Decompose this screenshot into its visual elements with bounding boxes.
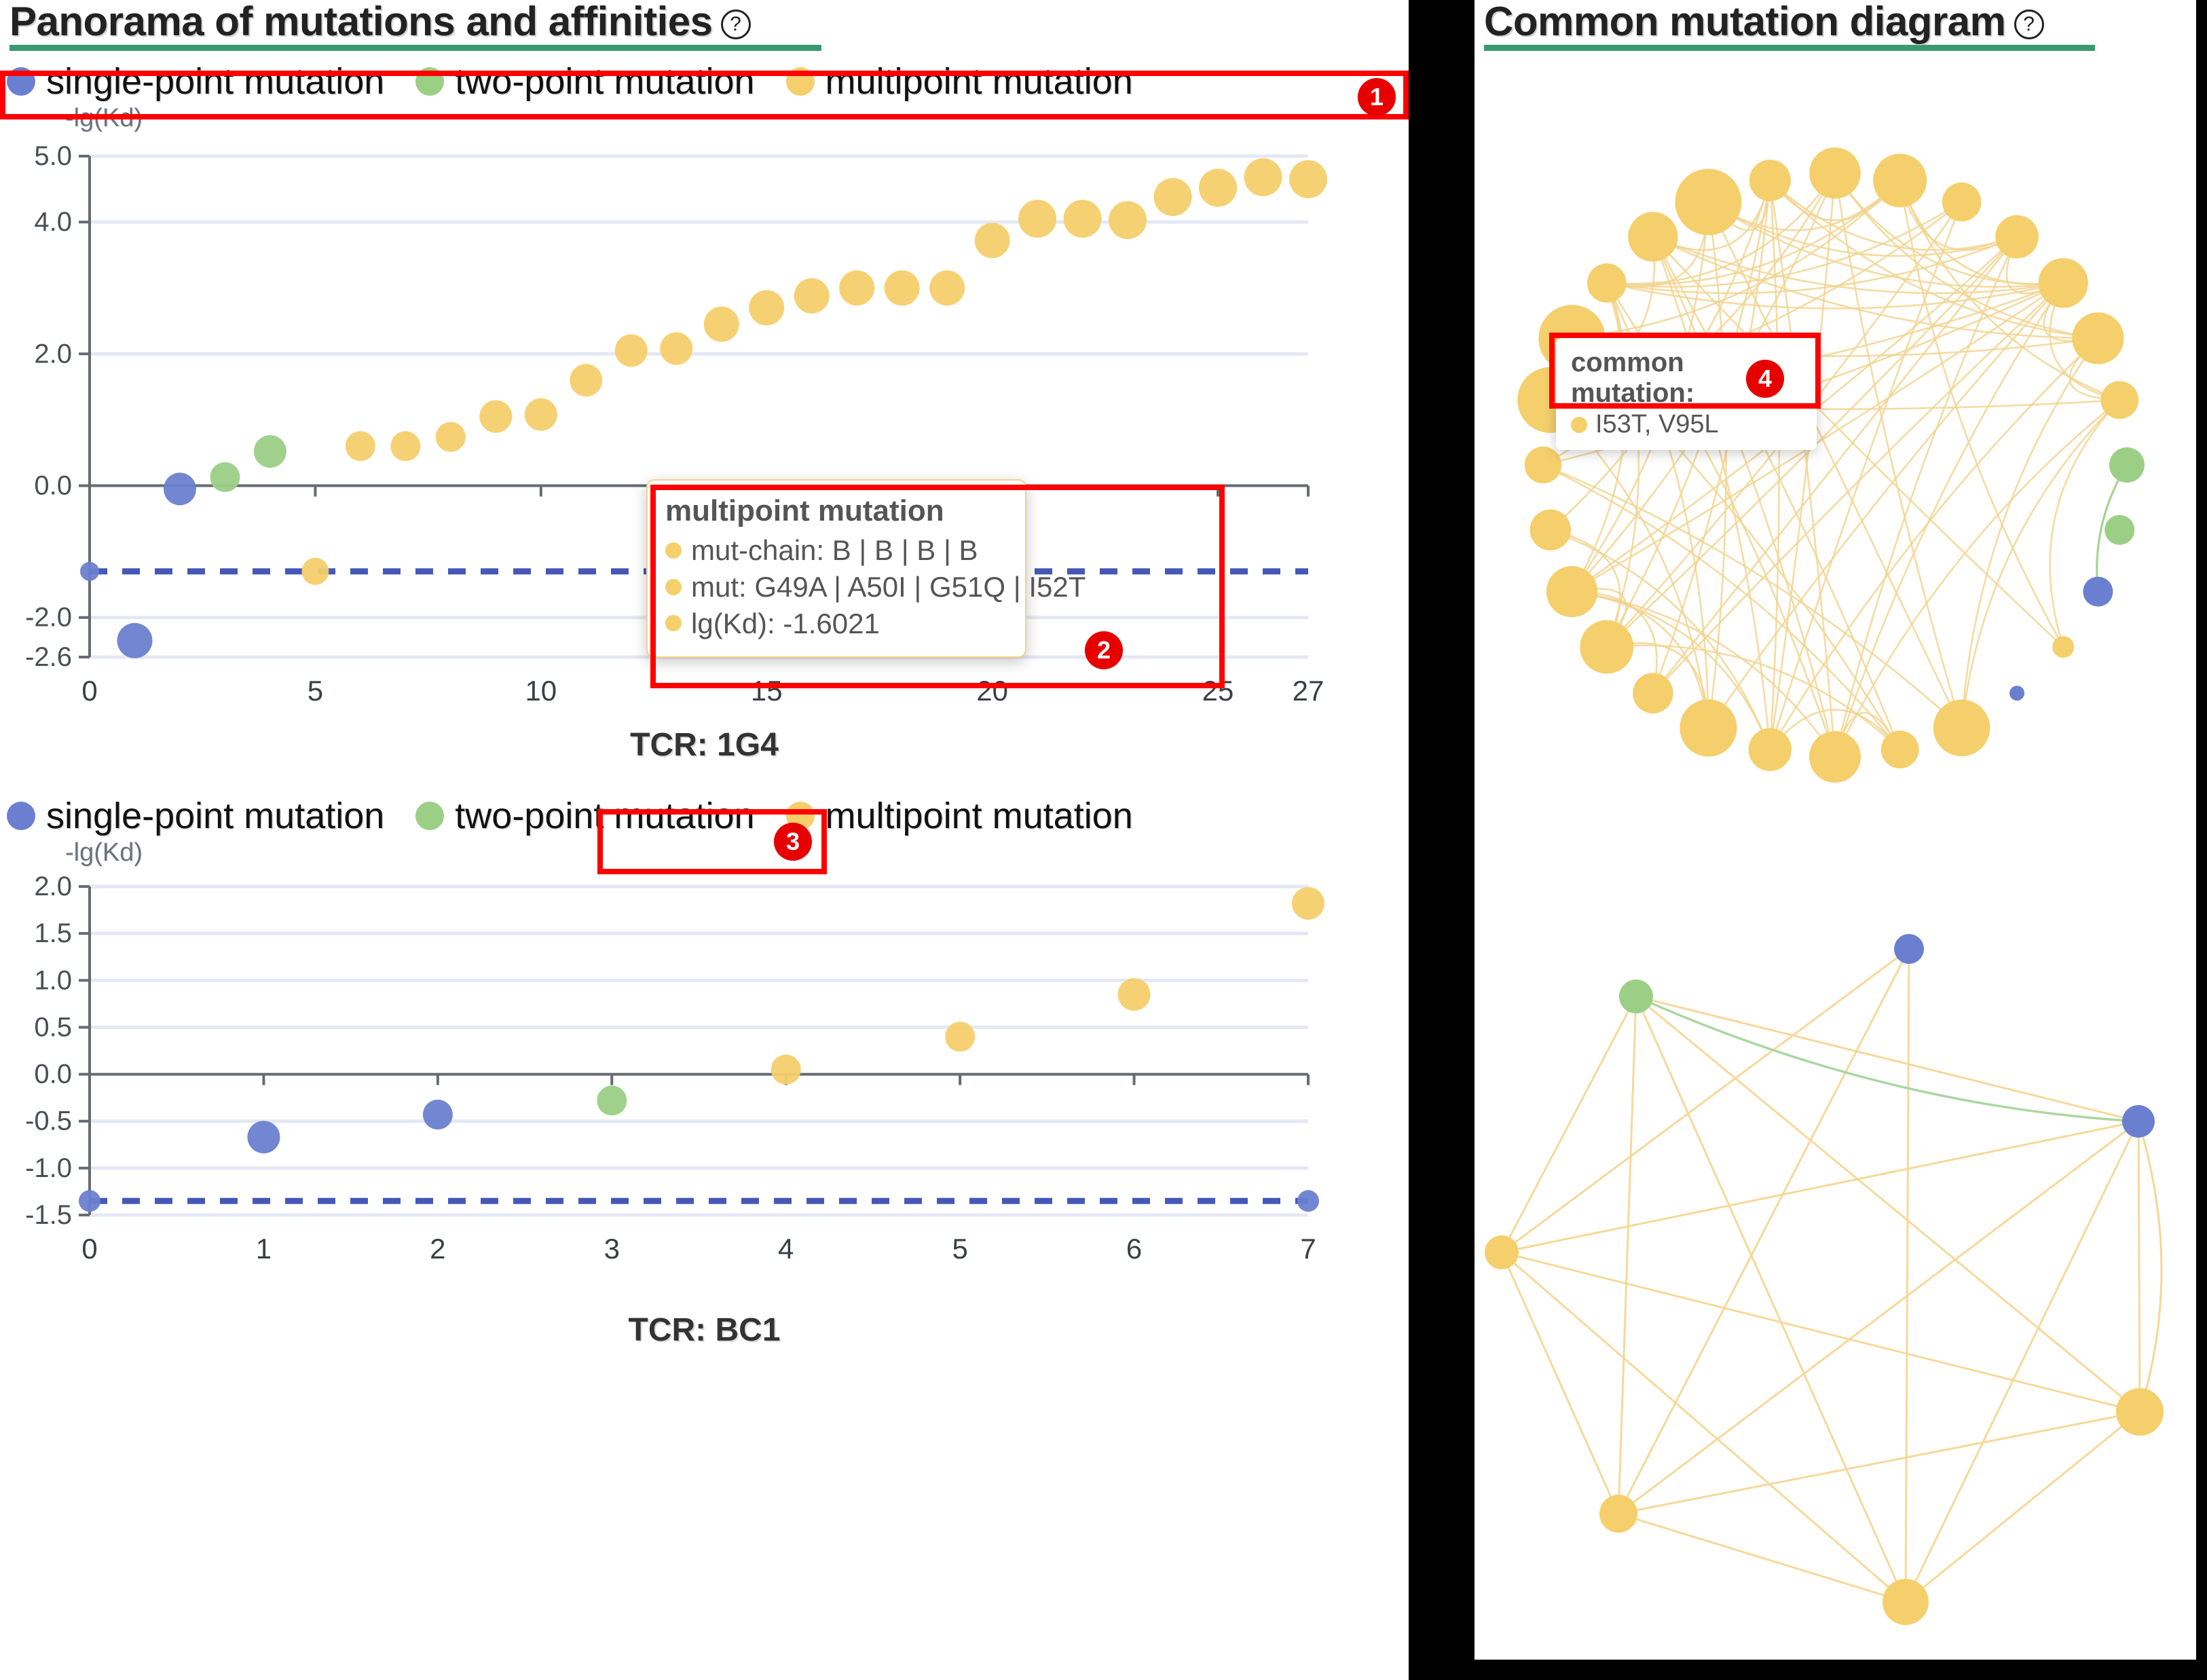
legend-item-two-point-2[interactable]: two-point mutation: [415, 795, 754, 837]
tooltip-text-mut-chain: mut-chain: B | B | B | B: [691, 532, 978, 569]
svg-text:20: 20: [976, 675, 1008, 707]
legend-dot-single-point: [7, 802, 35, 830]
bullet-dot-icon: [665, 579, 682, 595]
svg-text:4.0: 4.0: [34, 207, 72, 237]
svg-text:3: 3: [604, 1233, 620, 1265]
annotation-badge-3: 3: [774, 823, 812, 861]
svg-text:4: 4: [778, 1233, 794, 1265]
legend-label-multipoint: multipoint mutation: [826, 60, 1133, 102]
svg-text:-2.0: -2.0: [25, 603, 72, 633]
annotation-badge-2: 2: [1085, 631, 1123, 669]
common-mutation-header: Common mutation diagram ?: [1475, 0, 2196, 51]
annotation-badge-1: 1: [1358, 78, 1396, 116]
svg-text:5: 5: [952, 1233, 967, 1265]
svg-text:1.5: 1.5: [34, 918, 72, 948]
legend-dot-two-point: [415, 802, 444, 830]
common-mutation-panel: Common mutation diagram ? common mutatio…: [1475, 0, 2196, 1660]
tooltip-row-lgkd: lg(Kd): -1.6021: [665, 605, 1009, 642]
chart2-y-axis-label: -lg(Kd): [0, 838, 1409, 867]
legend-dot-single-point: [7, 67, 35, 96]
tooltip-row-mut: mut: G49A | A50I | G51Q | I52T: [665, 569, 1009, 605]
panorama-panel: Panorama of mutations and affinities ? s…: [0, 0, 1409, 1680]
tooltip-text-mut: mut: G49A | A50I | G51Q | I52T: [691, 569, 1086, 605]
cm-tooltip-row: I53T, V95L: [1571, 410, 1803, 439]
svg-text:0.0: 0.0: [34, 1060, 72, 1089]
panorama-header: Panorama of mutations and affinities ?: [0, 0, 1409, 51]
cm-tooltip-text: I53T, V95L: [1595, 410, 1719, 439]
bullet-dot-icon: [665, 542, 682, 559]
chart2-svg[interactable]: 2.01.51.00.50.0-0.5-1.0-1.501234567: [0, 867, 1409, 1288]
svg-text:25: 25: [1202, 675, 1234, 707]
svg-text:0.0: 0.0: [34, 471, 72, 501]
force-network-diagram[interactable]: [1475, 882, 2196, 1660]
legend-item-single-point[interactable]: single-point mutation: [7, 60, 384, 102]
svg-text:-1.5: -1.5: [25, 1200, 72, 1230]
tooltip-title: multipoint mutation: [665, 494, 1009, 528]
legend-label-two-point: two-point mutation: [455, 795, 754, 837]
legend-item-multipoint-2[interactable]: multipoint mutation: [786, 795, 1133, 837]
title-underline-right: [1484, 45, 2095, 51]
legend-item-multipoint[interactable]: multipoint mutation: [786, 60, 1133, 102]
legend-dot-multipoint: [786, 67, 815, 96]
chart2-caption: TCR: BC1: [0, 1311, 1409, 1349]
svg-text:5: 5: [308, 675, 323, 707]
svg-text:1: 1: [256, 1233, 272, 1265]
app-root: Panorama of mutations and affinities ? s…: [0, 0, 2207, 1680]
chart1-y-axis-label: -lg(Kd): [0, 104, 1409, 133]
chart2-legend: single-point mutation two-point mutation…: [0, 795, 1409, 837]
svg-text:0: 0: [81, 1233, 97, 1265]
bullet-dot-icon: [1571, 417, 1587, 433]
chart1-caption: TCR: 1G4: [0, 726, 1409, 764]
svg-text:2.0: 2.0: [34, 339, 72, 369]
svg-text:-2.6: -2.6: [25, 642, 72, 672]
chart2-plot[interactable]: 2.01.51.00.50.0-0.5-1.0-1.501234567: [0, 867, 1409, 1288]
svg-text:6: 6: [1126, 1233, 1142, 1265]
svg-text:0.5: 0.5: [34, 1012, 72, 1042]
legend-label-two-point: two-point mutation: [455, 60, 754, 102]
page-title-right: Common mutation diagram: [1484, 1, 2006, 42]
svg-text:0: 0: [81, 675, 97, 707]
legend-label-multipoint: multipoint mutation: [826, 795, 1133, 837]
common-mutation-tooltip: common mutation: I53T, V95L: [1556, 338, 1817, 450]
svg-text:10: 10: [525, 675, 557, 707]
svg-text:5.0: 5.0: [34, 141, 72, 171]
tooltip-row-mut-chain: mut-chain: B | B | B | B: [665, 532, 1009, 569]
panel-divider: [1409, 0, 1475, 1680]
legend-item-two-point[interactable]: two-point mutation: [415, 60, 754, 102]
bullet-dot-icon: [665, 615, 682, 631]
annotation-badge-4: 4: [1746, 360, 1784, 398]
title-underline: [10, 45, 821, 51]
svg-text:2.0: 2.0: [34, 872, 72, 901]
svg-text:2: 2: [430, 1233, 445, 1265]
legend-label-single-point: single-point mutation: [46, 795, 384, 837]
circular-network-svg[interactable]: [1475, 51, 2196, 879]
multipoint-tooltip: multipoint mutation mut-chain: B | B | B…: [646, 479, 1026, 658]
page-title: Panorama of mutations and affinities: [10, 1, 713, 42]
svg-text:7: 7: [1300, 1233, 1316, 1265]
force-network-svg[interactable]: [1475, 882, 2196, 1660]
svg-text:1.0: 1.0: [34, 965, 72, 995]
svg-text:-1.0: -1.0: [25, 1153, 72, 1183]
chart1-legend: single-point mutation two-point mutation…: [0, 60, 1409, 102]
legend-item-single-point-2[interactable]: single-point mutation: [7, 795, 384, 837]
question-mark-icon[interactable]: ?: [721, 10, 751, 39]
tooltip-text-lgkd: lg(Kd): -1.6021: [691, 605, 880, 642]
svg-text:15: 15: [751, 675, 783, 707]
svg-text:27: 27: [1293, 675, 1324, 707]
circular-network-diagram[interactable]: [1475, 51, 2196, 882]
question-mark-icon[interactable]: ?: [2014, 10, 2044, 39]
legend-dot-two-point: [415, 67, 444, 96]
legend-label-single-point: single-point mutation: [46, 60, 384, 102]
svg-text:-0.5: -0.5: [25, 1106, 72, 1136]
